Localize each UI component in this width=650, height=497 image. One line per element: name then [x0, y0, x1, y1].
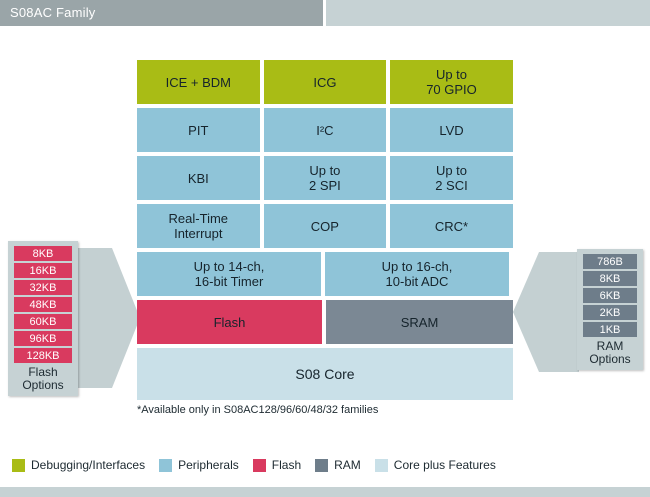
legend-label: Peripherals	[178, 458, 239, 472]
block-real-time-interrupt: Real-TimeInterrupt	[137, 204, 260, 248]
flash-option-chip: 16KB	[14, 263, 72, 278]
ram-option-chip: 2KB	[583, 305, 637, 320]
legend-swatch-peripherals	[159, 459, 172, 472]
legend-item: Core plus Features	[375, 458, 496, 472]
legend-label: Flash	[272, 458, 301, 472]
legend-swatch-core	[375, 459, 388, 472]
ram-options-label: RAMOptions	[583, 340, 637, 366]
flash-callout-arrow	[72, 248, 140, 388]
flash-option-chip: 32KB	[14, 280, 72, 295]
flash-option-chip: 60KB	[14, 314, 72, 329]
legend: Debugging/Interfaces Peripherals Flash R…	[12, 458, 510, 472]
block-lvd: LVD	[390, 108, 513, 152]
legend-swatch-debug	[12, 459, 25, 472]
page-header: S08AC Family	[0, 0, 650, 26]
flash-option-chip: 48KB	[14, 297, 72, 312]
ram-options-callout: 786B 8KB 6KB 2KB 1KB RAMOptions	[577, 249, 643, 370]
block-icg: ICG	[264, 60, 387, 104]
diagram-row: KBI Up to2 SPI Up to2 SCI	[137, 156, 513, 200]
legend-item: RAM	[315, 458, 361, 472]
block-adc: Up to 16-ch,10-bit ADC	[325, 252, 509, 296]
block-timer: Up to 14-ch,16-bit Timer	[137, 252, 321, 296]
diagram-row: ICE + BDM ICG Up to70 GPIO	[137, 60, 513, 104]
legend-label: Core plus Features	[394, 458, 496, 472]
bottom-strip	[0, 487, 650, 497]
ram-callout-arrow	[513, 252, 579, 372]
block-pit: PIT	[137, 108, 260, 152]
block-flash: Flash	[137, 300, 322, 344]
page-title: S08AC Family	[10, 5, 95, 20]
legend-label: RAM	[334, 458, 361, 472]
ram-option-chip: 1KB	[583, 322, 637, 337]
diagram-row-memory: Flash SRAM	[137, 300, 513, 344]
legend-item: Debugging/Interfaces	[12, 458, 145, 472]
diagram-row-core: S08 Core	[137, 348, 513, 400]
diagram-footnote: *Available only in S08AC128/96/60/48/32 …	[137, 404, 378, 416]
legend-label: Debugging/Interfaces	[31, 458, 145, 472]
block-kbi: KBI	[137, 156, 260, 200]
legend-item: Peripherals	[159, 458, 239, 472]
legend-swatch-flash	[253, 459, 266, 472]
block-gpio: Up to70 GPIO	[390, 60, 513, 104]
block-sci: Up to2 SCI	[390, 156, 513, 200]
block-ice-bdm: ICE + BDM	[137, 60, 260, 104]
ram-option-chip: 6KB	[583, 288, 637, 303]
flash-option-chip: 96KB	[14, 331, 72, 346]
header-extension-bar	[326, 0, 650, 26]
block-crc: CRC*	[390, 204, 513, 248]
diagram-row: PIT I²C LVD	[137, 108, 513, 152]
flash-options-label: FlashOptions	[14, 366, 72, 392]
legend-swatch-ram	[315, 459, 328, 472]
block-sram: SRAM	[326, 300, 513, 344]
block-i2c: I²C	[264, 108, 387, 152]
flash-option-chip: 8KB	[14, 246, 72, 261]
ram-option-chip: 8KB	[583, 271, 637, 286]
block-cop: COP	[264, 204, 387, 248]
ram-options-list: 786B 8KB 6KB 2KB 1KB	[583, 254, 637, 337]
diagram-row: Up to 14-ch,16-bit Timer Up to 16-ch,10-…	[137, 252, 513, 296]
legend-item: Flash	[253, 458, 301, 472]
flash-options-callout: 8KB 16KB 32KB 48KB 60KB 96KB 128KB Flash…	[8, 241, 78, 396]
flash-options-list: 8KB 16KB 32KB 48KB 60KB 96KB 128KB	[14, 246, 72, 363]
diagram-row: Real-TimeInterrupt COP CRC*	[137, 204, 513, 248]
block-spi: Up to2 SPI	[264, 156, 387, 200]
block-s08-core: S08 Core	[137, 348, 513, 400]
block-diagram: ICE + BDM ICG Up to70 GPIO PIT I²C LVD K…	[137, 60, 513, 404]
ram-option-chip: 786B	[583, 254, 637, 269]
flash-option-chip: 128KB	[14, 348, 72, 363]
header-title-bar: S08AC Family	[0, 0, 323, 26]
